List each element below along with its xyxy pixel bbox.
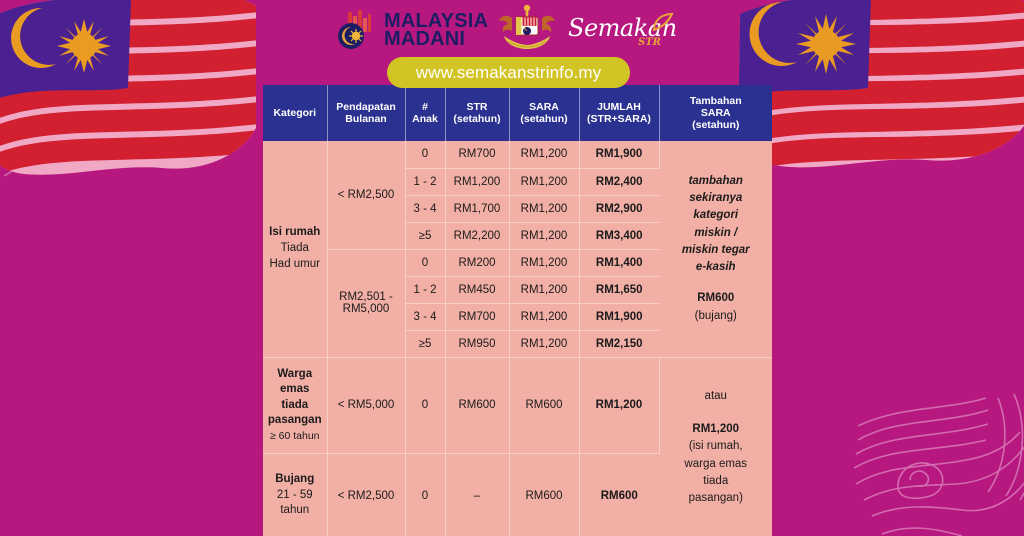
cell-anak: 0 bbox=[405, 357, 445, 453]
cell-sara: RM600 bbox=[509, 453, 579, 536]
tambahan-note-line: sekiranya bbox=[661, 190, 772, 207]
column-header-bilangan-anak: # Anak bbox=[405, 85, 445, 141]
header-text: (STR+SARA) bbox=[582, 113, 657, 125]
income-band-line: RM5,000 bbox=[329, 303, 404, 315]
cell-anak: ≥5 bbox=[405, 330, 445, 357]
tambahan-note-line: e-kasih bbox=[661, 259, 772, 276]
str-sara-rates-table: Kategori Pendapatan Bulanan # Anak STR (… bbox=[263, 85, 772, 536]
cell-str: RM600 bbox=[445, 357, 509, 453]
cell-tambahan-sara-note: tambahan sekiranya kategori miskin / mis… bbox=[659, 141, 772, 357]
cell-str: RM2,200 bbox=[445, 222, 509, 249]
income-band-line: RM2,501 - bbox=[329, 291, 404, 303]
tambahan-note-line: miskin tegar bbox=[661, 242, 772, 259]
cell-income-band: < RM5,000 bbox=[327, 357, 405, 453]
cell-tambahan-sara-alternatives: atau RM1,200 (isi rumah, warga emas tiad… bbox=[659, 357, 772, 536]
column-header-pendapatan-bulanan: Pendapatan Bulanan bbox=[327, 85, 405, 141]
header-text: Tambahan bbox=[662, 95, 771, 107]
cell-kategori-isi-rumah: Isi rumah Tiada Had umur bbox=[263, 141, 327, 357]
contour-lines-bottomright bbox=[838, 388, 1024, 536]
tambahan-amount-note-line: pasangan) bbox=[661, 490, 772, 507]
cell-jumlah: RM1,650 bbox=[579, 276, 659, 303]
leaf-icon bbox=[650, 12, 676, 34]
website-url-text: www.semakanstrinfo.my bbox=[416, 63, 601, 83]
str-sara-rates-table-container: Kategori Pendapatan Bulanan # Anak STR (… bbox=[263, 85, 772, 536]
column-header-jumlah: JUMLAH (STR+SARA) bbox=[579, 85, 659, 141]
tambahan-amount-bujang-note: (bujang) bbox=[661, 308, 772, 325]
cell-str: RM950 bbox=[445, 330, 509, 357]
cell-anak: 1 - 2 bbox=[405, 168, 445, 195]
cell-jumlah: RM3,400 bbox=[579, 222, 659, 249]
kategori-sub: ≥ 60 tahun bbox=[264, 429, 326, 443]
malaysia-madani-wordmark: MALAYSIA MADANI bbox=[384, 12, 488, 49]
semakan-str-logo: Semakan STR bbox=[566, 10, 676, 54]
cell-jumlah: RM1,200 bbox=[579, 357, 659, 453]
cell-str: RM1,700 bbox=[445, 195, 509, 222]
cell-str: RM700 bbox=[445, 303, 509, 330]
cell-str: RM1,200 bbox=[445, 168, 509, 195]
tambahan-note-line: miskin / bbox=[661, 225, 772, 242]
infographic-canvas: MALAYSIA MADANI bbox=[0, 0, 1024, 536]
cell-sara: RM1,200 bbox=[509, 303, 579, 330]
column-header-str: STR (setahun) bbox=[445, 85, 509, 141]
table-row: Isi rumah Tiada Had umur < RM2,500 0 RM7… bbox=[263, 141, 772, 168]
header-text: (setahun) bbox=[448, 113, 507, 125]
header-text: Bulanan bbox=[330, 113, 403, 125]
tambahan-amount-isirumah: RM1,200 bbox=[661, 421, 772, 438]
cell-sara: RM1,200 bbox=[509, 330, 579, 357]
cell-sara: RM1,200 bbox=[509, 249, 579, 276]
table-row: Warga emas tiada pasangan ≥ 60 tahun < R… bbox=[263, 357, 772, 453]
cell-jumlah: RM1,900 bbox=[579, 303, 659, 330]
cell-anak: ≥5 bbox=[405, 222, 445, 249]
cell-jumlah: RM1,400 bbox=[579, 249, 659, 276]
header-text: (setahun) bbox=[512, 113, 577, 125]
kategori-title: Isi rumah bbox=[269, 226, 320, 238]
cell-jumlah: RM2,150 bbox=[579, 330, 659, 357]
kategori-title: Bujang bbox=[275, 473, 314, 485]
cell-sara: RM600 bbox=[509, 357, 579, 453]
cell-str: RM700 bbox=[445, 141, 509, 168]
website-url-pill[interactable]: www.semakanstrinfo.my bbox=[387, 57, 630, 88]
malaysia-madani-logo: MALAYSIA MADANI bbox=[334, 6, 486, 54]
header-text: Kategori bbox=[265, 107, 325, 119]
column-header-kategori: Kategori bbox=[263, 85, 327, 141]
header-text: SARA bbox=[662, 107, 771, 119]
header-text: Anak bbox=[408, 113, 443, 125]
header-text: JUMLAH bbox=[582, 101, 657, 113]
jata-negara-coat-of-arms-icon bbox=[494, 4, 560, 54]
kategori-title-line: tiada bbox=[281, 399, 308, 411]
tambahan-amount-note-line: (isi rumah, bbox=[661, 438, 772, 455]
kategori-sub: tahun bbox=[264, 503, 326, 519]
tambahan-amount-bujang: RM600 bbox=[661, 290, 772, 307]
column-header-tambahan-sara: Tambahan SARA (setahun) bbox=[659, 85, 772, 141]
kategori-title-line: Warga bbox=[277, 368, 312, 380]
tambahan-amount-note-line: warga emas bbox=[661, 456, 772, 473]
tambahan-conjunction: atau bbox=[661, 388, 772, 405]
cell-anak: 3 - 4 bbox=[405, 195, 445, 222]
cell-anak: 0 bbox=[405, 249, 445, 276]
cell-sara: RM1,200 bbox=[509, 195, 579, 222]
header-text: SARA bbox=[512, 101, 577, 113]
semakan-str-subtext: STR bbox=[638, 37, 661, 48]
kategori-sub: 21 - 59 bbox=[264, 488, 326, 504]
cell-str: RM450 bbox=[445, 276, 509, 303]
kategori-sub: Tiada bbox=[264, 241, 326, 257]
cell-income-band: < RM2,500 bbox=[327, 453, 405, 536]
cell-jumlah: RM600 bbox=[579, 453, 659, 536]
cell-jumlah: RM1,900 bbox=[579, 141, 659, 168]
tambahan-amount-note-line: tiada bbox=[661, 473, 772, 490]
cell-jumlah: RM2,400 bbox=[579, 168, 659, 195]
cell-income-band: < RM2,500 bbox=[327, 141, 405, 249]
cell-anak: 3 - 4 bbox=[405, 303, 445, 330]
cell-kategori-bujang: Bujang 21 - 59 tahun bbox=[263, 453, 327, 536]
cell-sara: RM1,200 bbox=[509, 222, 579, 249]
cell-anak: 1 - 2 bbox=[405, 276, 445, 303]
cell-jumlah: RM2,900 bbox=[579, 195, 659, 222]
cell-anak: 0 bbox=[405, 453, 445, 536]
kategori-sub: Had umur bbox=[264, 257, 326, 273]
page-header: MALAYSIA MADANI bbox=[0, 0, 1024, 90]
cell-sara: RM1,200 bbox=[509, 168, 579, 195]
tambahan-note-line: tambahan bbox=[661, 173, 772, 190]
malaysia-madani-emblem-icon bbox=[334, 8, 378, 52]
header-text: # bbox=[408, 101, 443, 113]
table-header-row: Kategori Pendapatan Bulanan # Anak STR (… bbox=[263, 85, 772, 141]
cell-income-band: RM2,501 - RM5,000 bbox=[327, 249, 405, 357]
madani-line-2: MADANI bbox=[384, 30, 488, 48]
column-header-sara: SARA (setahun) bbox=[509, 85, 579, 141]
cell-kategori-warga-emas: Warga emas tiada pasangan ≥ 60 tahun bbox=[263, 357, 327, 453]
cell-anak: 0 bbox=[405, 141, 445, 168]
cell-str: – bbox=[445, 453, 509, 536]
kategori-title-line: pasangan bbox=[268, 414, 322, 426]
cell-sara: RM1,200 bbox=[509, 276, 579, 303]
header-text: (setahun) bbox=[662, 119, 771, 131]
header-text: STR bbox=[448, 101, 507, 113]
header-text: Pendapatan bbox=[330, 101, 403, 113]
tambahan-note-line: kategori bbox=[661, 207, 772, 224]
cell-sara: RM1,200 bbox=[509, 141, 579, 168]
cell-str: RM200 bbox=[445, 249, 509, 276]
kategori-title-line: emas bbox=[280, 383, 309, 395]
